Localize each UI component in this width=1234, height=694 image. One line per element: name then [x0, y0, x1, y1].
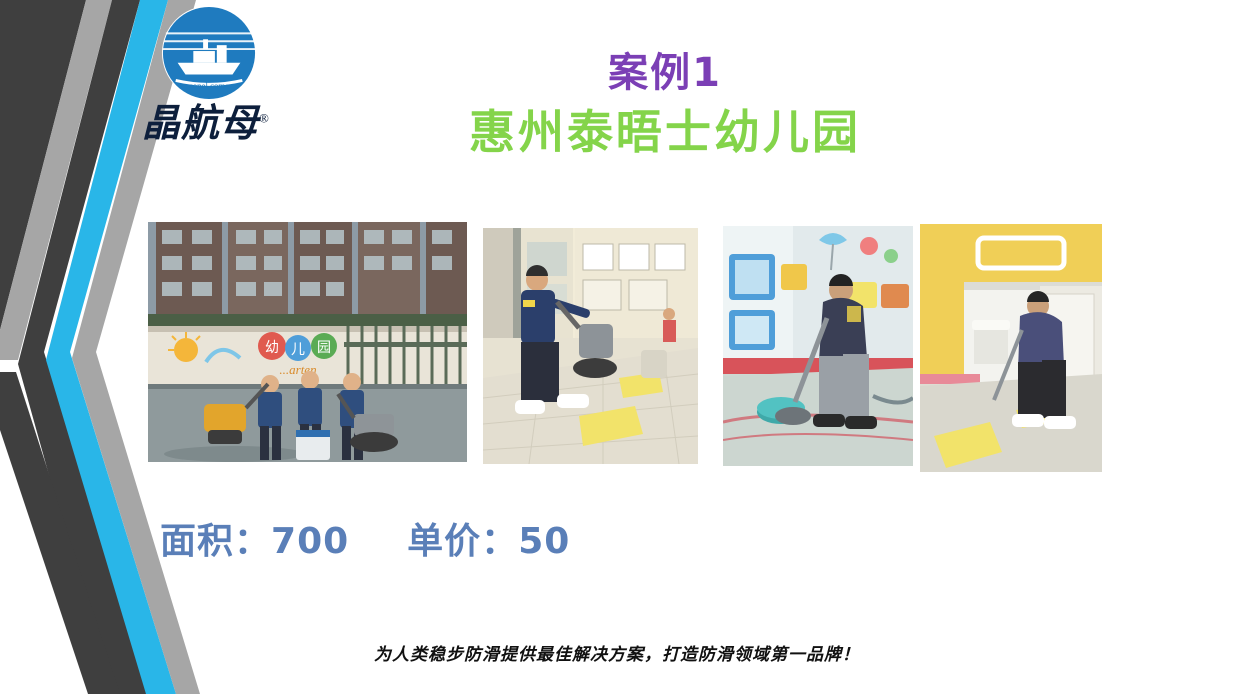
slide-footer-slogan: 为人类稳步防滑提供最佳解决方案，打造防滑领域第一品牌！: [0, 640, 1234, 665]
page-title-case: 案例1: [430, 40, 900, 98]
company-logo: conel come 晶航母®: [142, 4, 312, 174]
logo-brand-text: 晶航母®: [142, 92, 312, 147]
area-label: 面积：: [160, 521, 271, 562]
photo-3-art: [723, 226, 913, 466]
photo-4-art: [920, 224, 1102, 472]
deco-shape-dark-v: [18, 0, 148, 694]
photo-corridor-grinding: [483, 228, 698, 464]
photo-1-art: 幼 儿 园 ...arten: [148, 222, 467, 462]
svg-text:儿: 儿: [291, 342, 305, 358]
price-label: 单价：: [407, 521, 518, 562]
badge-word-text: conel come: [189, 80, 229, 90]
photo-2-art: [483, 228, 698, 464]
ship-badge-icon: conel come: [160, 4, 258, 102]
logo-brand-label: 晶航母: [142, 103, 259, 145]
photo-kindergarten-gate-crew: 幼 儿 园 ...arten: [148, 222, 467, 462]
photo-restroom-treatment: [920, 224, 1102, 472]
photo-classroom-mopping: [723, 226, 913, 466]
deco-shape-gray-band: [0, 0, 112, 360]
background-person: [663, 308, 676, 342]
svg-text:幼: 幼: [265, 340, 279, 356]
svg-text:园: 园: [317, 340, 331, 356]
project-stats: 面积：700单价：50: [160, 512, 570, 564]
deco-shape-dark-outer: [0, 0, 86, 330]
price-value: 50: [518, 521, 570, 562]
registered-mark: ®: [259, 110, 270, 125]
slide-canvas: conel come 晶航母® 案例1 惠州泰晤士幼儿园: [0, 0, 1234, 694]
page-title-name: 惠州泰晤士幼儿园: [380, 96, 950, 162]
area-value: 700: [271, 521, 349, 562]
